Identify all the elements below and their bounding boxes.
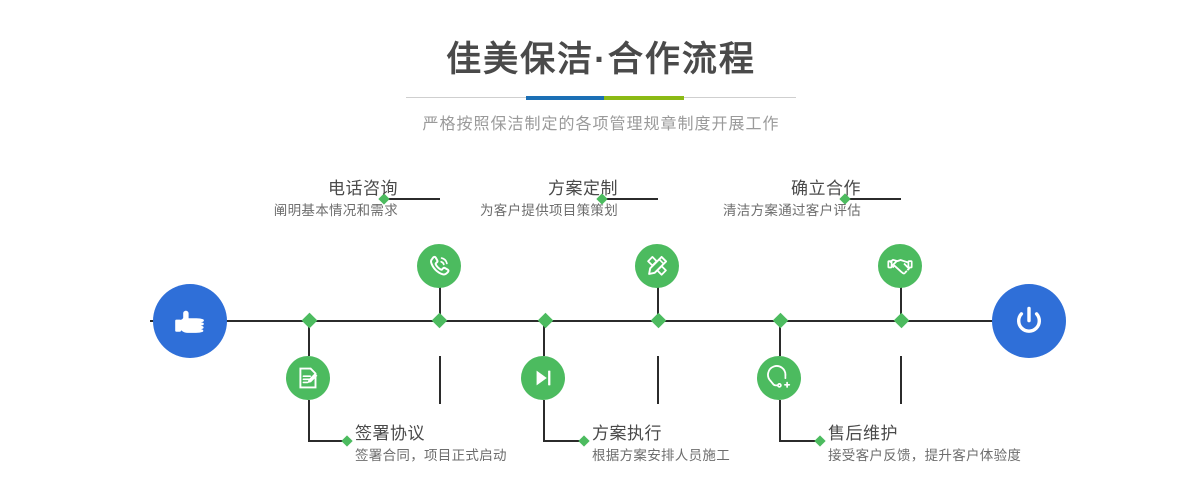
step-label-4: 方案执行 根据方案安排人员施工 — [592, 423, 812, 466]
step-node-1[interactable] — [417, 244, 461, 288]
step-title-1: 电话咨询 — [218, 178, 398, 201]
divider-segment-blue — [526, 96, 604, 100]
step-desc-2: 签署合同，项目正式启动 — [355, 446, 585, 466]
step-node-2[interactable] — [286, 356, 330, 400]
timeline-start-node — [153, 284, 227, 358]
pencil-ruler-icon — [644, 253, 670, 279]
step-label-2: 签署协议 签署合同，项目正式启动 — [355, 423, 585, 466]
step-title-4: 方案执行 — [592, 423, 812, 446]
document-edit-icon — [295, 365, 321, 391]
pointing-hand-icon — [170, 301, 210, 341]
step-title-2: 签署协议 — [355, 423, 585, 446]
page-subtitle: 严格按照保洁制定的各项管理规章制度开展工作 — [0, 110, 1202, 134]
step-desc-6: 接受客户反馈，提升客户体验度 — [828, 446, 1088, 466]
axis-marker-1b — [432, 313, 448, 329]
step-desc-3: 为客户提供项目策策划 — [440, 201, 618, 221]
play-skip-icon — [530, 365, 556, 391]
handshake-icon — [887, 253, 913, 279]
step-node-3[interactable] — [635, 244, 679, 288]
step-title-3: 方案定制 — [440, 178, 618, 201]
step-node-4[interactable] — [521, 356, 565, 400]
process-timeline: 电话咨询 阐明基本情况和需求 签署协议 签署合同，项目正式启动 — [0, 160, 1202, 502]
connector-tip-2 — [341, 435, 352, 446]
axis-marker-3 — [538, 313, 554, 329]
step-desc-5: 清洁方案通过客户评估 — [686, 201, 861, 221]
timeline-end-node — [992, 284, 1066, 358]
divider-segment-green — [604, 96, 684, 100]
step-node-5[interactable] — [878, 244, 922, 288]
header: 佳美保洁·合作流程 严格按照保洁制定的各项管理规章制度开展工作 — [0, 0, 1202, 134]
connector-stem-3b — [657, 356, 659, 404]
cooperation-process-infographic: 佳美保洁·合作流程 严格按照保洁制定的各项管理规章制度开展工作 — [0, 0, 1202, 502]
step-label-6: 售后维护 接受客户反馈，提升客户体验度 — [828, 423, 1088, 466]
connector-stem-5b — [900, 356, 902, 404]
phone-call-icon — [426, 253, 452, 279]
step-desc-4: 根据方案安排人员施工 — [592, 446, 812, 466]
connector-stem-2b — [308, 400, 310, 442]
title-divider — [406, 96, 796, 100]
page-title: 佳美保洁·合作流程 — [0, 0, 1202, 82]
connector-tip-6 — [814, 435, 825, 446]
step-node-6[interactable] — [757, 356, 801, 400]
connector-stem-1b — [439, 356, 441, 404]
step-label-5: 确立合作 清洁方案通过客户评估 — [686, 178, 861, 221]
axis-marker-5 — [773, 313, 789, 329]
axis-marker-3b — [651, 313, 667, 329]
step-label-1: 电话咨询 阐明基本情况和需求 — [218, 178, 398, 221]
axis-marker-2 — [302, 313, 318, 329]
step-title-5: 确立合作 — [686, 178, 861, 201]
step-title-6: 售后维护 — [828, 423, 1088, 446]
axis-marker-5b — [894, 313, 910, 329]
headset-support-icon — [766, 365, 792, 391]
timeline-axis — [150, 320, 1052, 322]
power-icon — [1009, 301, 1049, 341]
step-desc-1: 阐明基本情况和需求 — [218, 201, 398, 221]
step-label-3: 方案定制 为客户提供项目策策划 — [440, 178, 618, 221]
